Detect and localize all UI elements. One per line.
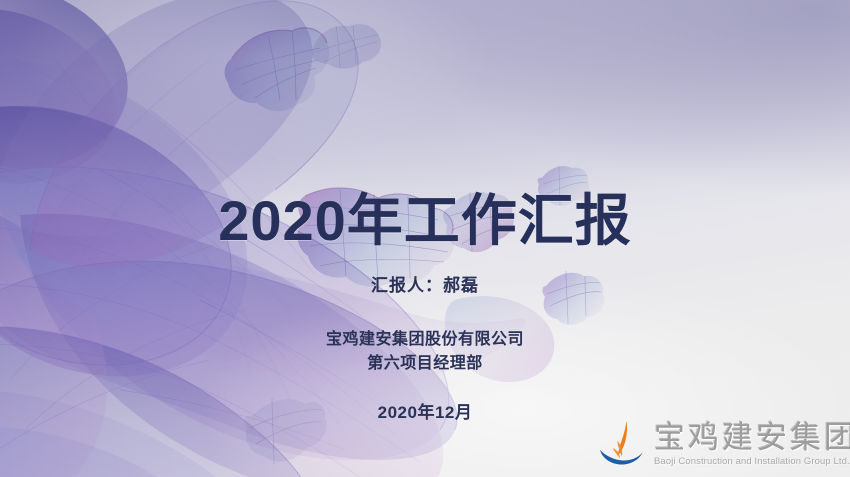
logo-text-group: 宝鸡建安集团 Baoji Construction and Installati… xyxy=(654,421,850,467)
company-logo: 宝鸡建安集团 Baoji Construction and Installati… xyxy=(596,414,846,474)
sailboat-icon xyxy=(596,419,648,469)
logo-english-name: Baoji Construction and Installation Grou… xyxy=(654,457,850,467)
page-title: 2020年工作汇报 xyxy=(0,193,850,249)
organization-department: 第六项目经理部 xyxy=(0,352,850,376)
logo-chinese-name: 宝鸡建安集团 xyxy=(654,423,850,454)
presenter-label: 汇报人：郝磊 xyxy=(0,271,850,296)
organization-company: 宝鸡建安集团股份有限公司 xyxy=(0,328,850,352)
organization-block: 宝鸡建安集团股份有限公司 第六项目经理部 xyxy=(0,328,850,376)
presentation-slide: 2020年工作汇报 汇报人：郝磊 宝鸡建安集团股份有限公司 第六项目经理部 20… xyxy=(0,0,850,477)
